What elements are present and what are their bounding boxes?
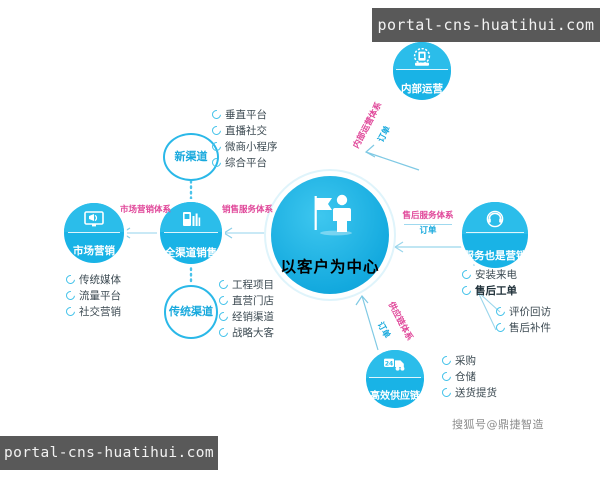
list-marketing: 传统媒体流量平台社交营销 bbox=[66, 271, 121, 319]
list-item[interactable]: 直营门店 bbox=[219, 292, 274, 308]
node-supply-chain-label: 高效供应链 bbox=[370, 392, 420, 403]
gear-factory-icon bbox=[393, 48, 451, 67]
megaphone-screen-icon bbox=[64, 211, 124, 227]
list-item-label: 微商小程序 bbox=[225, 139, 278, 154]
list-item[interactable]: 安装来电 bbox=[462, 266, 517, 282]
node-customer-center-label: 以客户为中心 bbox=[280, 259, 379, 276]
list-item-label: 直营门店 bbox=[232, 293, 274, 308]
list-new-channel: 垂直平台直播社交微商小程序综合平台 bbox=[212, 106, 278, 170]
node-traditional-channel-label: 传统渠道 bbox=[169, 306, 213, 318]
bullet-arc-icon bbox=[64, 305, 77, 318]
list-item-label: 工程项目 bbox=[232, 277, 274, 292]
edge-rule bbox=[404, 224, 452, 225]
list-traditional-channel: 工程项目直营门店经销渠道战略大客 bbox=[219, 276, 274, 340]
list-service-main: 安装来电售后工单 bbox=[462, 266, 517, 298]
edge-order-text: 订单 bbox=[396, 227, 460, 237]
bullet-arc-icon bbox=[460, 268, 473, 281]
bullet-arc-icon bbox=[440, 370, 453, 383]
edge-label-marketing-system: 市场营销体系 bbox=[120, 206, 164, 216]
list-item[interactable]: 战略大客 bbox=[219, 324, 274, 340]
list-item-label: 安装来电 bbox=[475, 267, 517, 282]
node-traditional-channel[interactable]: 传统渠道 bbox=[164, 285, 218, 339]
node-marketing[interactable]: 市场营销 bbox=[64, 203, 124, 263]
node-new-channel-label: 新渠道 bbox=[175, 151, 208, 163]
edge-system-text: 售后服务体系 bbox=[396, 212, 460, 222]
list-item[interactable]: 工程项目 bbox=[219, 276, 274, 292]
bullet-arc-icon bbox=[210, 108, 223, 121]
list-item-label: 流量平台 bbox=[79, 288, 121, 303]
list-item-label: 垂直平台 bbox=[225, 107, 267, 122]
list-item-label: 直播社交 bbox=[225, 123, 267, 138]
edge-label-after-sales-system: 售后服务体系 订单 bbox=[396, 212, 460, 237]
list-item[interactable]: 综合平台 bbox=[212, 154, 278, 170]
edge-system-text: 市场营销体系 bbox=[120, 206, 164, 216]
diagram-canvas: 以客户为中心 市场营销 全渠道销售 bbox=[0, 0, 600, 480]
node-customer-center[interactable]: 以客户为中心 bbox=[271, 176, 389, 294]
list-item-label: 售后补件 bbox=[509, 320, 551, 335]
list-item[interactable]: 流量平台 bbox=[66, 287, 121, 303]
node-omnichannel-sales-label: 全渠道销售 bbox=[165, 248, 218, 259]
truck-24h-icon: 24 bbox=[366, 357, 424, 372]
watermark-top: portal-cns-huatihui.com bbox=[372, 8, 600, 42]
list-item-label: 送货提货 bbox=[455, 385, 497, 400]
node-divider bbox=[369, 377, 420, 378]
list-supply-chain: 采购仓储送货提货 bbox=[442, 352, 497, 400]
bullet-arc-icon bbox=[64, 289, 77, 302]
list-item-label: 售后工单 bbox=[475, 283, 517, 298]
list-item[interactable]: 垂直平台 bbox=[212, 106, 278, 122]
list-item[interactable]: 采购 bbox=[442, 352, 497, 368]
list-item-label: 仓储 bbox=[455, 369, 476, 384]
list-service-sub: 评价回访售后补件 bbox=[496, 303, 551, 335]
list-item-label: 评价回访 bbox=[509, 304, 551, 319]
node-internal-operations[interactable]: 内部运营 bbox=[393, 42, 451, 100]
credit-text: 搜狐号@鼎捷智造 bbox=[452, 416, 544, 432]
bullet-arc-icon bbox=[460, 284, 473, 297]
bullet-arc-icon bbox=[494, 305, 507, 318]
bullet-arc-icon bbox=[210, 156, 223, 169]
bullet-arc-icon bbox=[217, 310, 230, 323]
node-new-channel[interactable]: 新渠道 bbox=[163, 133, 219, 181]
edge-system-text: 销售服务体系 bbox=[222, 206, 268, 216]
bullet-arc-icon bbox=[440, 386, 453, 399]
bullet-arc-icon bbox=[217, 294, 230, 307]
list-item-label: 传统媒体 bbox=[79, 272, 121, 287]
node-service-is-marketing-label: 服务也是营销 bbox=[464, 251, 527, 262]
list-item-label: 采购 bbox=[455, 353, 476, 368]
node-divider bbox=[466, 232, 524, 233]
watermark-bottom: portal-cns-huatihui.com bbox=[0, 436, 218, 470]
node-marketing-label: 市场营销 bbox=[73, 246, 115, 257]
svg-text:24: 24 bbox=[385, 360, 393, 367]
bullet-arc-icon bbox=[64, 273, 77, 286]
headset-support-icon bbox=[462, 210, 528, 228]
list-item[interactable]: 售后工单 bbox=[462, 282, 517, 298]
list-item-label: 战略大客 bbox=[232, 325, 274, 340]
edge-label-sales-service-system: 销售服务体系 bbox=[222, 206, 268, 216]
node-divider bbox=[396, 69, 447, 70]
bullet-arc-icon bbox=[440, 354, 453, 367]
node-supply-chain[interactable]: 24 高效供应链 bbox=[366, 350, 424, 408]
list-item[interactable]: 微商小程序 bbox=[212, 138, 278, 154]
list-item[interactable]: 送货提货 bbox=[442, 384, 497, 400]
list-item-label: 社交营销 bbox=[79, 304, 121, 319]
bullet-arc-icon bbox=[494, 321, 507, 334]
list-item[interactable]: 传统媒体 bbox=[66, 271, 121, 287]
list-item[interactable]: 评价回访 bbox=[496, 303, 551, 319]
list-item[interactable]: 直播社交 bbox=[212, 122, 278, 138]
bullet-arc-icon bbox=[210, 124, 223, 137]
list-item[interactable]: 经销渠道 bbox=[219, 308, 274, 324]
node-service-is-marketing[interactable]: 服务也是营销 bbox=[462, 202, 528, 268]
bullet-arc-icon bbox=[217, 326, 230, 339]
list-item[interactable]: 仓储 bbox=[442, 368, 497, 384]
node-divider bbox=[164, 232, 219, 233]
node-divider bbox=[68, 232, 121, 233]
list-item-label: 综合平台 bbox=[225, 155, 267, 170]
list-item[interactable]: 售后补件 bbox=[496, 319, 551, 335]
list-item[interactable]: 社交营销 bbox=[66, 303, 121, 319]
bullet-arc-icon bbox=[217, 278, 230, 291]
bullet-arc-icon bbox=[210, 140, 223, 153]
list-item-label: 经销渠道 bbox=[232, 309, 274, 324]
person-flag-icon bbox=[271, 192, 389, 238]
node-internal-operations-label: 内部运营 bbox=[401, 84, 443, 95]
